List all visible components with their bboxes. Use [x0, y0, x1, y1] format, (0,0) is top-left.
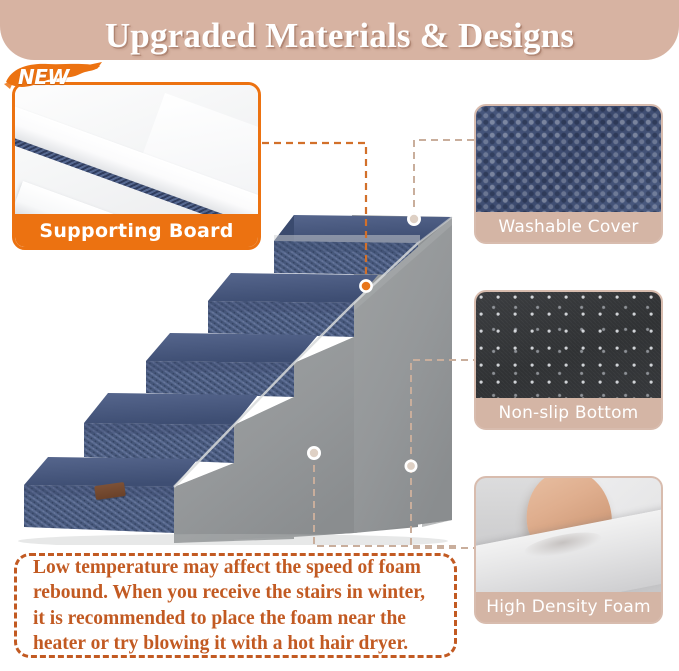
new-badge-label: NEW [18, 65, 69, 89]
non-slip-bottom-photo [476, 292, 661, 398]
supporting-board-caption-bar: Supporting Board [15, 214, 258, 247]
non-slip-bottom-caption-bar: Non-slip Bottom [476, 398, 661, 428]
foam-texture [476, 478, 661, 592]
washable-cover-photo [476, 106, 661, 212]
feature-panel-high-density-foam[interactable]: High Density Foam [474, 476, 663, 624]
high-density-foam-label: High Density Foam [486, 597, 650, 617]
feature-panel-non-slip-bottom[interactable]: Non-slip Bottom [474, 290, 663, 430]
page-title: Upgraded Materials & Designs [105, 16, 574, 56]
fabric-texture [476, 106, 661, 212]
nonslip-texture [476, 292, 661, 398]
warning-note-text: Low temperature may affect the speed of … [33, 555, 440, 656]
new-badge: NEW [2, 60, 106, 94]
high-density-foam-caption-bar: High Density Foam [476, 592, 661, 622]
header-banner: Upgraded Materials & Designs [0, 0, 679, 60]
non-slip-bottom-label: Non-slip Bottom [499, 403, 639, 423]
supporting-board-label: Supporting Board [39, 220, 233, 242]
warning-note: Low temperature may affect the speed of … [14, 553, 457, 658]
high-density-foam-photo [476, 478, 661, 592]
washable-cover-caption-bar: Washable Cover [476, 212, 661, 242]
washable-cover-label: Washable Cover [498, 217, 638, 237]
supporting-board-panel[interactable]: Supporting Board [12, 82, 261, 250]
infographic-page: Upgraded Materials & Designs [0, 0, 679, 671]
feature-panel-washable-cover[interactable]: Washable Cover [474, 104, 663, 244]
